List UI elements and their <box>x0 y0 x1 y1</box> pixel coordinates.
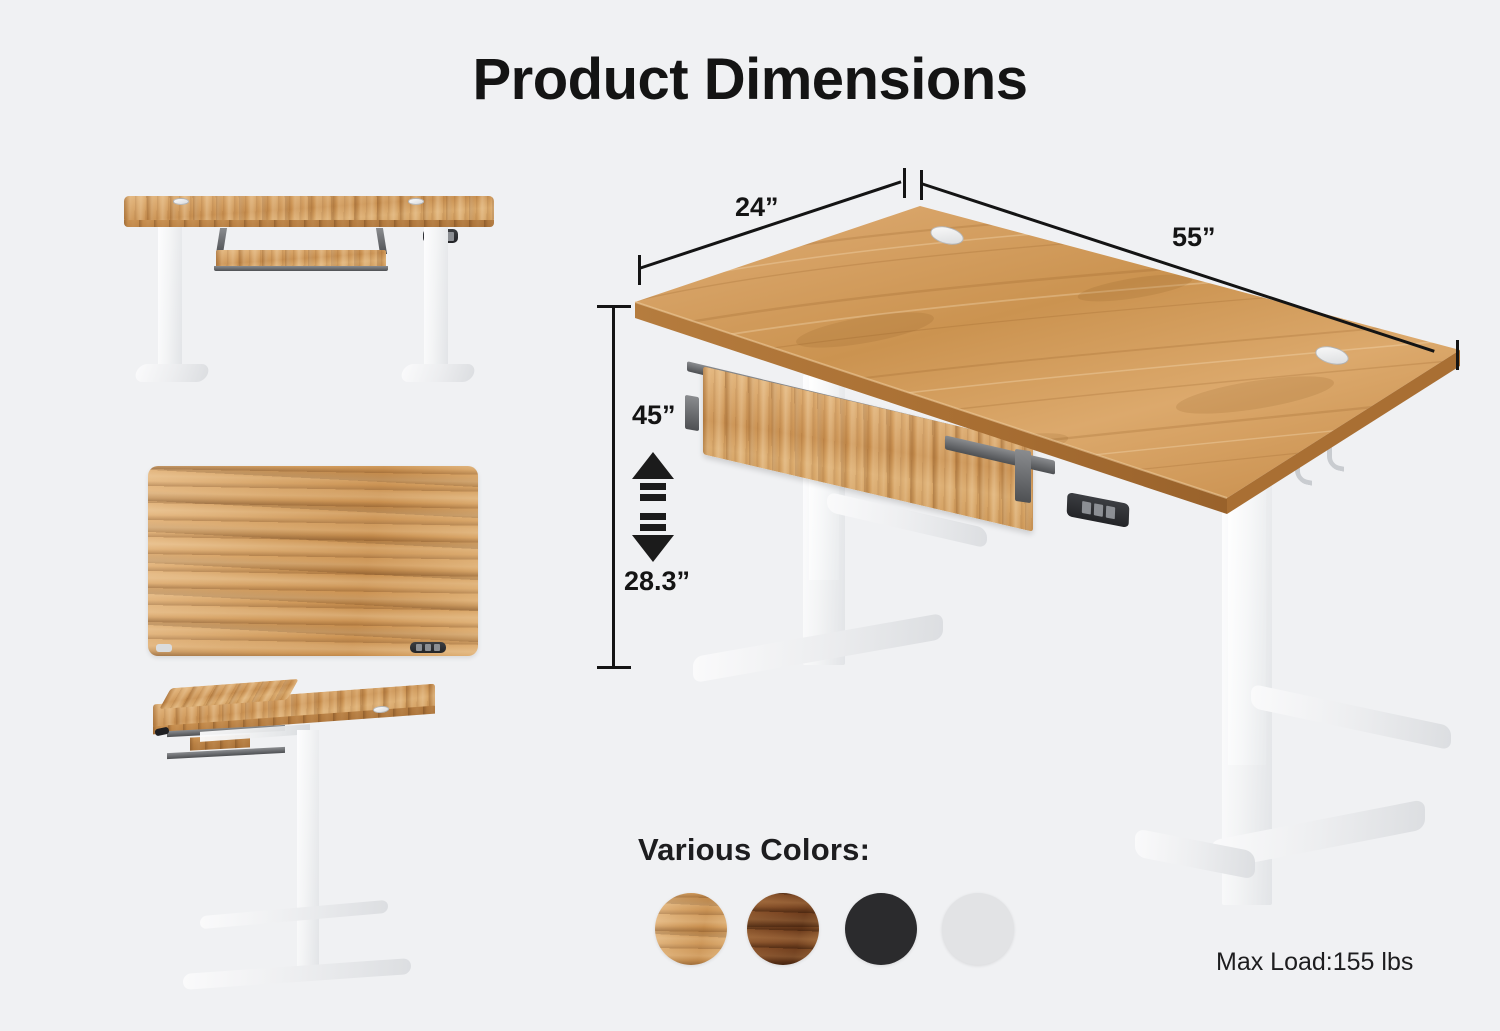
tray-frame-lower <box>167 747 285 759</box>
arrow-down-icon <box>632 535 674 562</box>
headphone-hook-icon <box>1327 446 1344 472</box>
control-down-button[interactable] <box>447 232 454 241</box>
width-dimension-label: 55” <box>1172 222 1216 253</box>
width-tick-start <box>920 170 923 200</box>
side-view-rear-foot <box>200 900 388 929</box>
control-up-button[interactable] <box>416 644 422 651</box>
height-tick-top <box>597 305 631 308</box>
cable-grommet-icon <box>1313 343 1350 368</box>
hero-right-foot-rear-arm <box>1251 684 1451 751</box>
height-max-label: 45” <box>632 400 676 431</box>
hero-height-control-panel[interactable] <box>1067 492 1130 528</box>
height-dimension-line <box>612 305 615 669</box>
side-view-leg-column <box>297 730 319 968</box>
infographic-canvas: Product Dimensions <box>0 0 1500 1031</box>
right-leg-column <box>424 227 448 367</box>
control-display <box>1093 503 1102 517</box>
various-colors-heading: Various Colors: <box>638 832 870 868</box>
top-view-leg-shadow <box>156 644 172 652</box>
front-view-desktop-edge <box>124 220 494 227</box>
hero-tray-bracket-left <box>685 395 699 431</box>
hero-right-leg-inner <box>1228 465 1266 765</box>
hero-tray-bracket-right <box>1015 449 1031 503</box>
max-load-text: Max Load:155 lbs <box>1216 948 1413 977</box>
top-view <box>148 466 478 656</box>
left-foot <box>133 364 210 382</box>
headphone-hook-icon <box>1295 460 1312 486</box>
width-tick-end <box>1456 340 1459 370</box>
arrow-down-bar-2 <box>640 524 666 531</box>
color-swatch-rustic-brown[interactable] <box>747 893 819 965</box>
side-view <box>145 678 475 998</box>
right-foot <box>399 364 476 382</box>
cable-grommet-icon <box>928 223 965 248</box>
color-swatch-white[interactable] <box>942 893 1014 965</box>
depth-tick-end <box>903 168 906 198</box>
color-swatch-black[interactable] <box>845 893 917 965</box>
cable-grommet-icon <box>408 198 424 205</box>
height-tick-bottom <box>597 666 631 669</box>
control-display <box>425 644 431 651</box>
depth-dimension-label: 24” <box>735 192 779 223</box>
hero-desk-perspective-view <box>615 180 1475 900</box>
front-view <box>118 190 508 435</box>
control-down-button[interactable] <box>434 644 440 651</box>
top-view-control-panel[interactable] <box>410 642 446 653</box>
keyboard-tray-frame <box>214 266 388 271</box>
depth-tick-start <box>638 255 641 285</box>
control-up-button[interactable] <box>1081 501 1090 515</box>
left-leg-column <box>158 227 182 367</box>
cable-grommet-icon <box>173 198 189 205</box>
arrow-up-icon <box>632 452 674 479</box>
arrow-down-bar-1 <box>640 513 666 520</box>
top-view-desktop-surface <box>148 466 478 656</box>
color-swatch-natural-oak[interactable] <box>655 893 727 965</box>
height-min-label: 28.3” <box>624 566 690 597</box>
arrow-up-bar-1 <box>640 483 666 490</box>
page-title: Product Dimensions <box>0 46 1500 113</box>
control-down-button[interactable] <box>1105 505 1114 519</box>
arrow-up-bar-2 <box>640 494 666 501</box>
